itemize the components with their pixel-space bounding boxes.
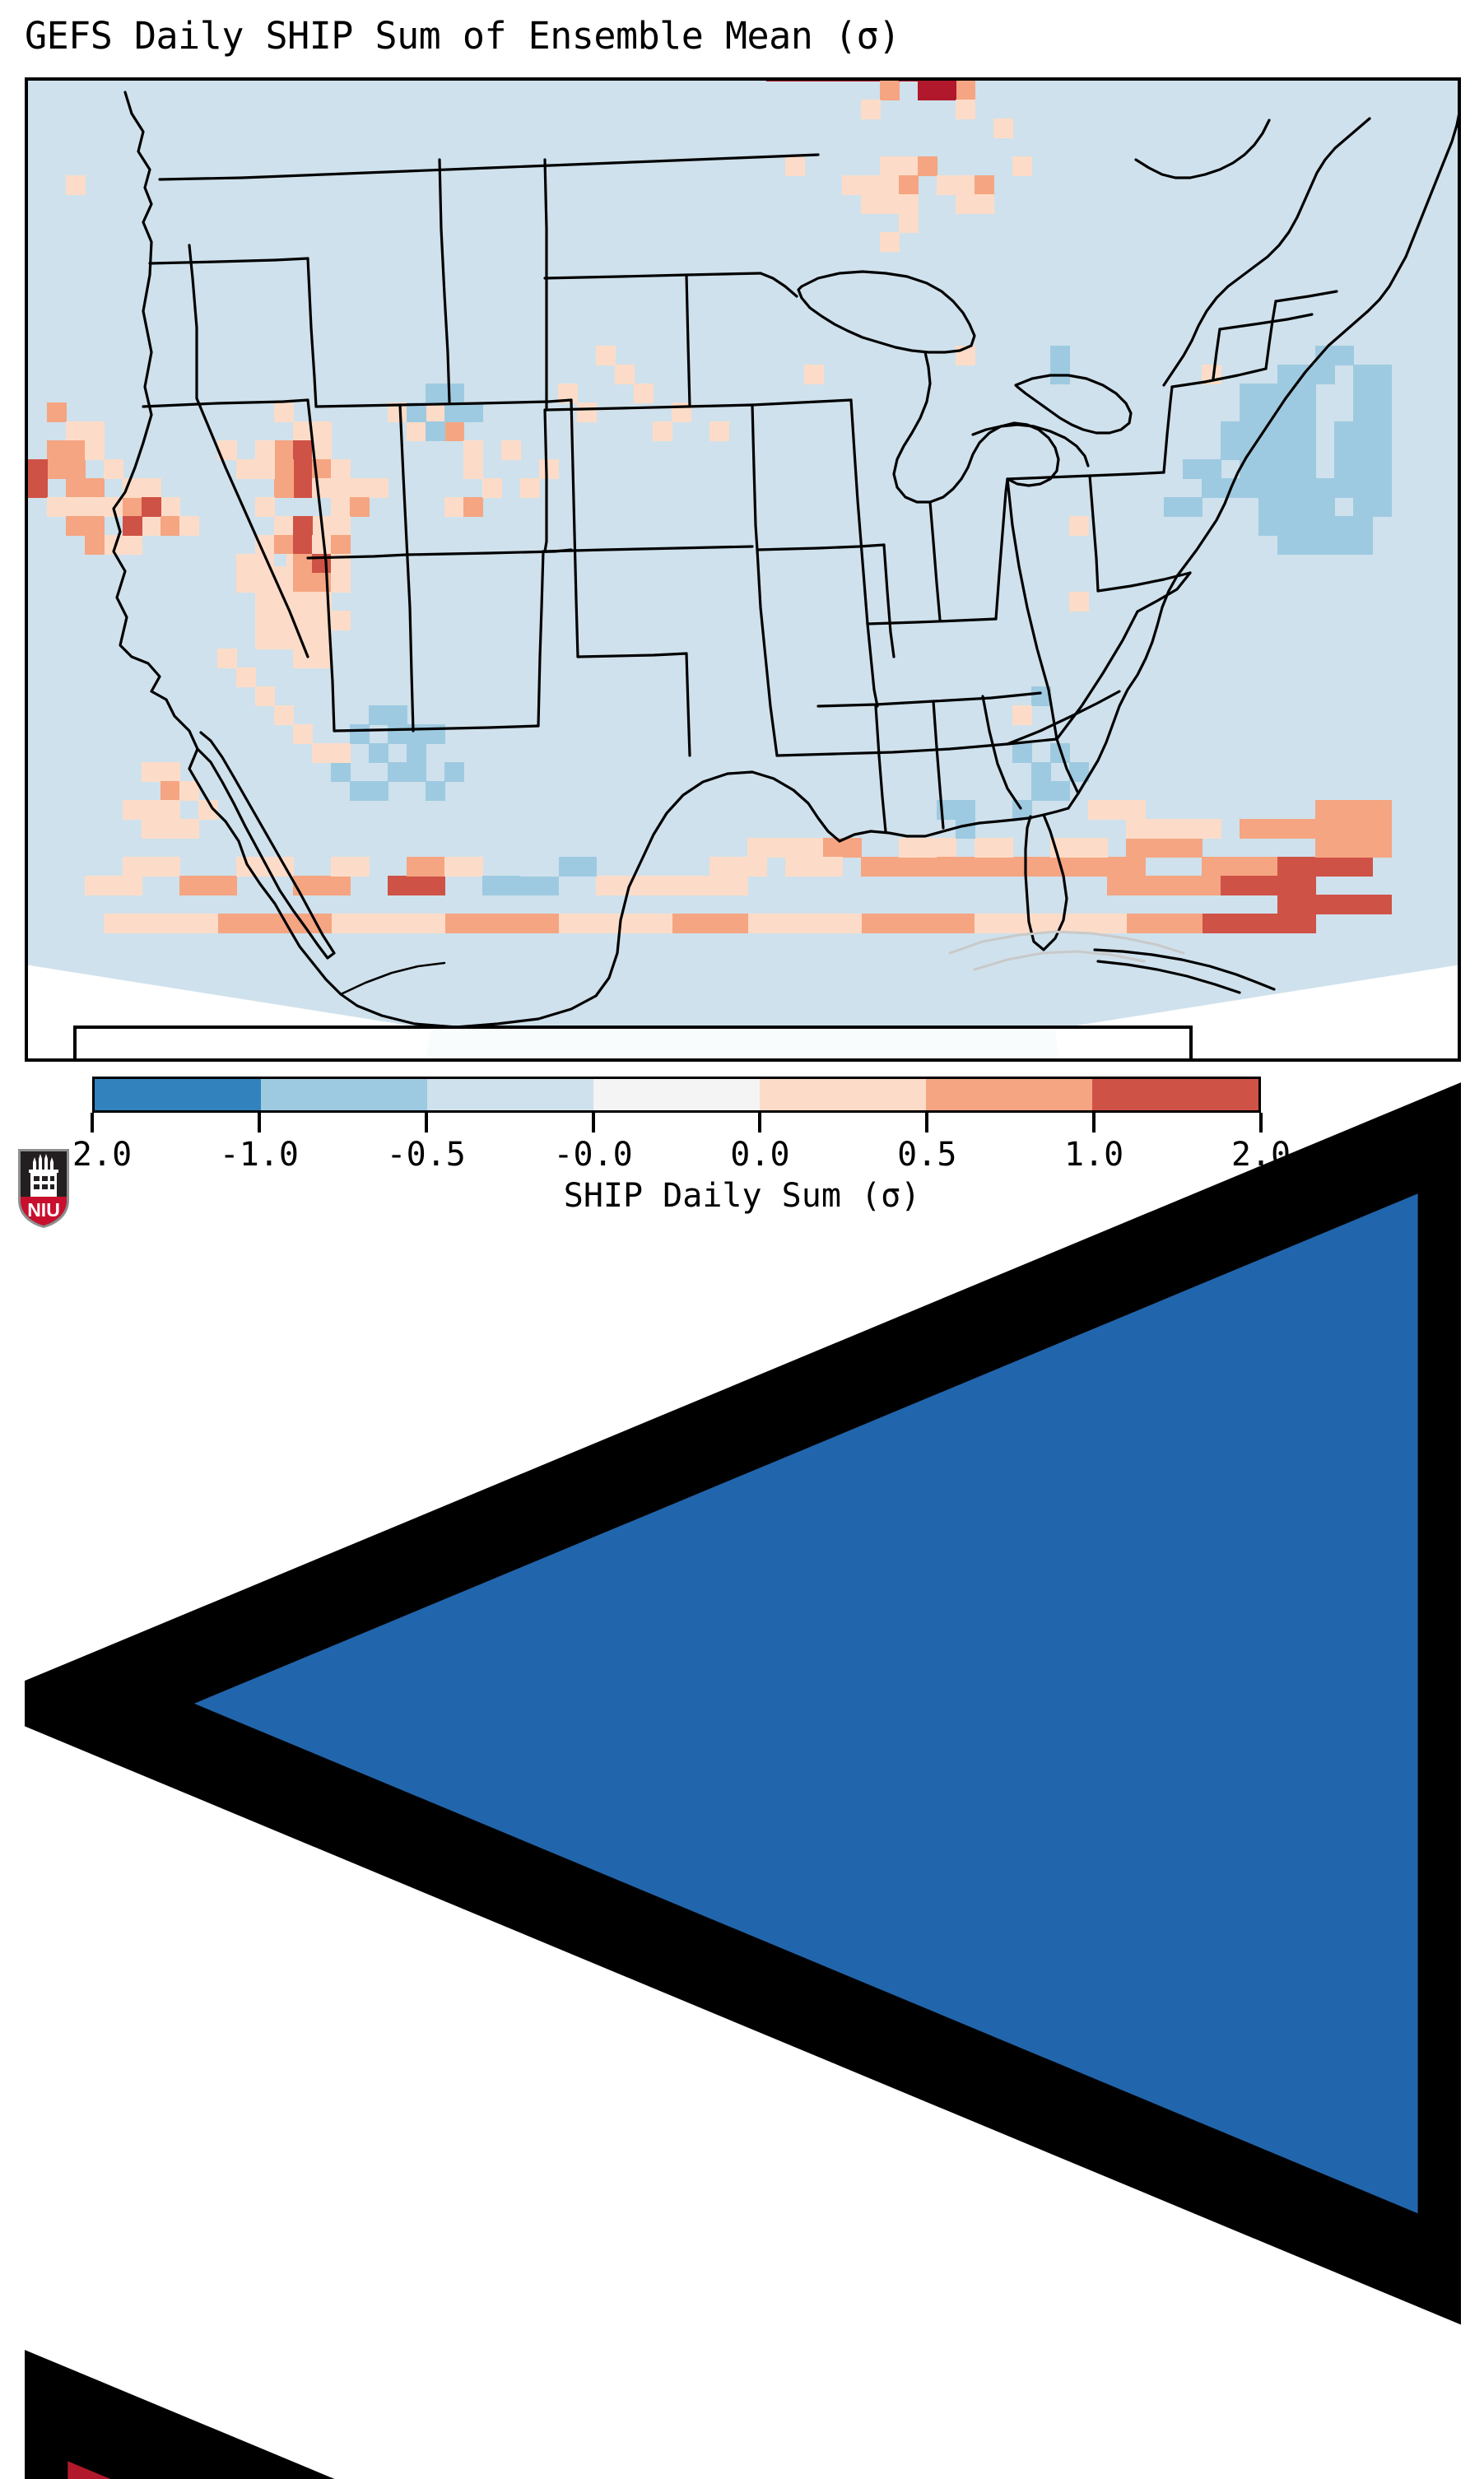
colorbar-tick-label-2: -0.5 bbox=[387, 1136, 466, 1174]
state-borders bbox=[143, 155, 1337, 994]
colorbar-segments bbox=[92, 1077, 1261, 1113]
colorbar-axis-label: SHIP Daily Sum (σ) bbox=[0, 1177, 1484, 1215]
colorbar-tick-4 bbox=[758, 1113, 761, 1133]
colorbar-tick-label-6: 1.0 bbox=[1064, 1136, 1123, 1174]
geography-layer bbox=[28, 81, 1458, 1058]
figure-title: GEFS Daily SHIP Sum of Ensemble Mean (σ) bbox=[25, 15, 1461, 58]
colorbar-tick-label-4: 0.0 bbox=[730, 1136, 789, 1174]
map-clip bbox=[28, 81, 1458, 1058]
colorbar-tick-label-7: 2.0 bbox=[1231, 1136, 1291, 1174]
niu-logo-text: NIU bbox=[27, 1199, 60, 1221]
colorbar-tick-0 bbox=[91, 1113, 94, 1133]
colorbar-tick-label-1: -1.0 bbox=[220, 1136, 299, 1174]
colorbar-segment-5 bbox=[926, 1079, 1092, 1110]
colorbar-tick-7 bbox=[1259, 1113, 1263, 1133]
colorbar-tick-3 bbox=[592, 1113, 595, 1133]
colorbar-tick-5 bbox=[925, 1113, 928, 1133]
colorbar-segment-1 bbox=[261, 1079, 427, 1110]
coastlines bbox=[114, 92, 1458, 1027]
colorbar-segment-3 bbox=[593, 1079, 760, 1110]
colorbar-extend-left-arrow bbox=[25, 1072, 1461, 2336]
valid-run-infobox: Valid: 2025-10-19 12:00 UTC to 2025-10-2… bbox=[73, 1026, 1193, 1062]
figure-root: GEFS Daily SHIP Sum of Ensemble Mean (σ) bbox=[0, 0, 1484, 1239]
colorbar: -2.0-1.0-0.5-0.00.00.51.02.0 bbox=[25, 1072, 1461, 1121]
colorbar-tick-label-5: 0.5 bbox=[897, 1136, 956, 1174]
colorbar-extend-right-arrow bbox=[25, 2339, 1461, 2479]
colorbar-tick-6 bbox=[1092, 1113, 1096, 1133]
colorbar-ticks bbox=[25, 1113, 1461, 1134]
colorbar-tick-label-3: -0.0 bbox=[553, 1136, 632, 1174]
niu-logo: NIU bbox=[13, 1146, 74, 1231]
colorbar-segment-0 bbox=[95, 1079, 261, 1110]
colorbar-segment-2 bbox=[427, 1079, 593, 1110]
map-panel: Valid: 2025-10-19 12:00 UTC to 2025-10-2… bbox=[25, 77, 1461, 1062]
colorbar-segment-6 bbox=[1092, 1079, 1258, 1110]
colorbar-segment-4 bbox=[760, 1079, 926, 1110]
colorbar-tick-2 bbox=[425, 1113, 428, 1133]
colorbar-tick-labels: -2.0-1.0-0.5-0.00.00.51.02.0 bbox=[25, 1136, 1461, 1182]
colorbar-tick-1 bbox=[258, 1113, 261, 1133]
